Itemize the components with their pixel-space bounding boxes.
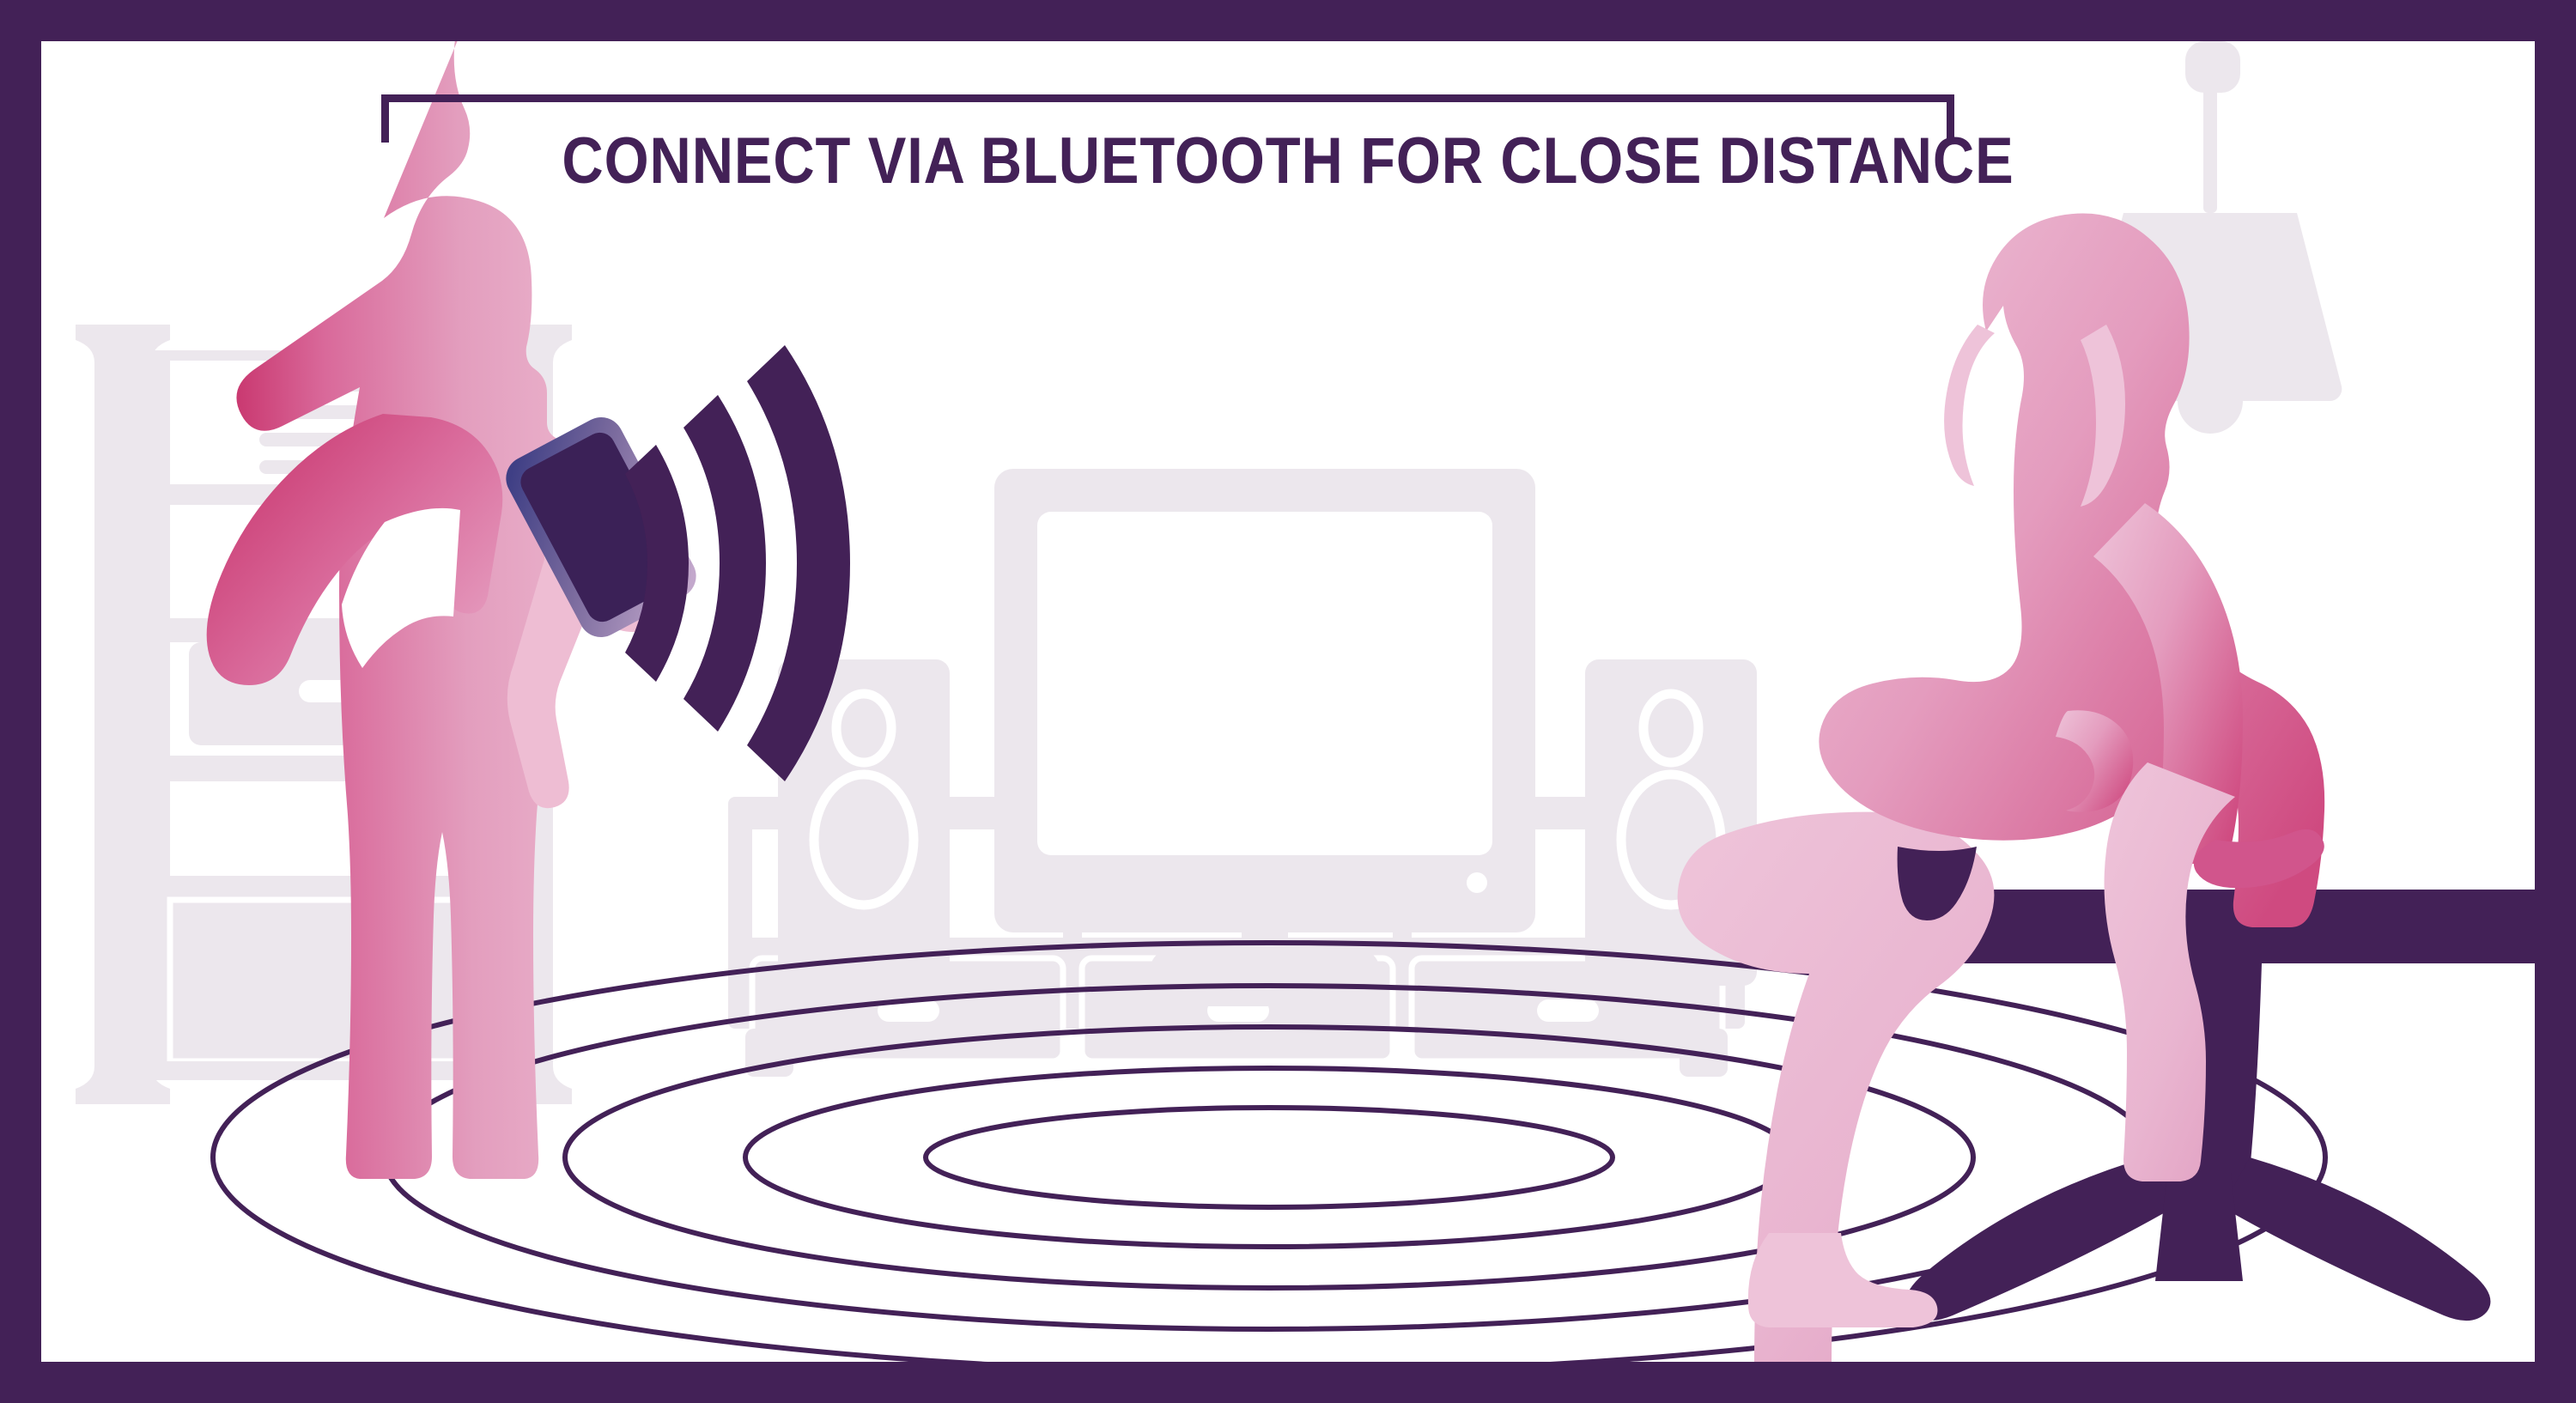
television [994, 469, 1535, 1006]
poster-frame: CONNECT VIA BLUETOOTH FOR CLOSE DISTANCE [0, 0, 2576, 1403]
page-title: CONNECT VIA BLUETOOTH FOR CLOSE DISTANCE [191, 124, 2385, 198]
poster-canvas: CONNECT VIA BLUETOOTH FOR CLOSE DISTANCE [41, 41, 2535, 1362]
scene-illustration [41, 41, 2535, 1362]
bluetooth-signal-waves [625, 345, 850, 781]
